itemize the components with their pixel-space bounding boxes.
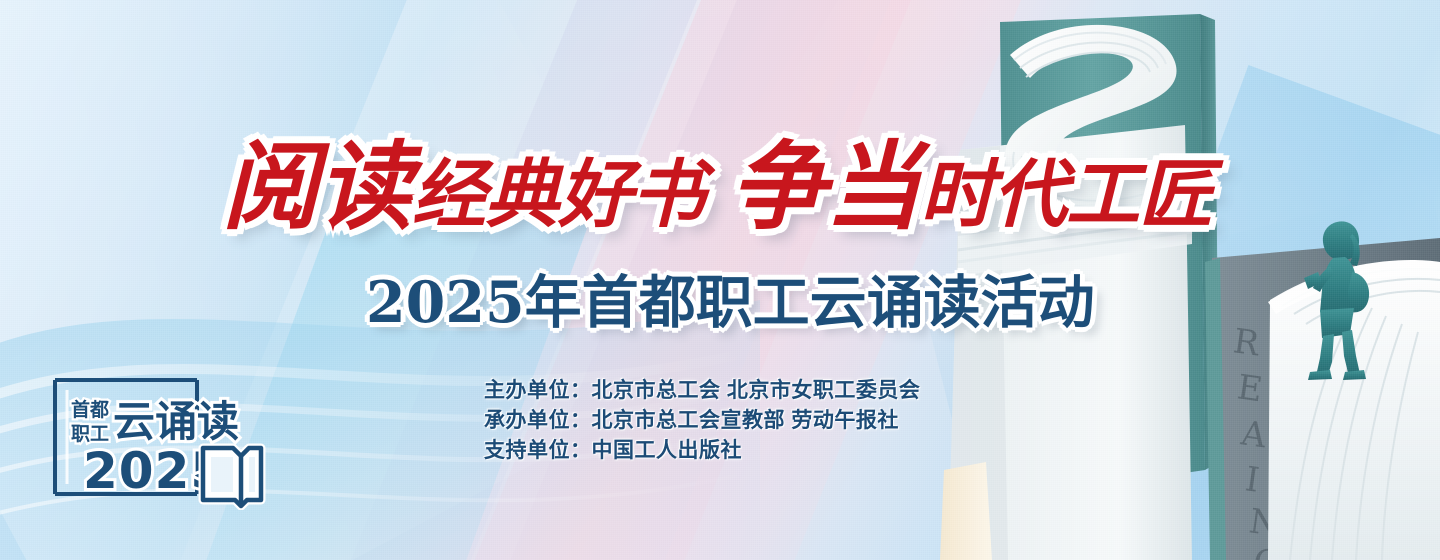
svg-text:G: G (1251, 541, 1283, 560)
headline: 阅读 经典好书 争当 时代工匠 (222, 124, 1232, 250)
headline-segment1-rest: 经典好书 (412, 158, 704, 232)
subtitle: 2025年首都职工云诵读活动 (366, 274, 1095, 331)
svg-text:I: I (1243, 459, 1262, 500)
credit-line-organizer: 承办单位：北京市总工会宣教部 劳动午报社 (484, 406, 920, 436)
organizer-credits: 主办单位：北京市总工会 北京市女职工委员会 承办单位：北京市总工会宣教部 劳动午… (484, 376, 920, 466)
event-logo-badge: 首都 职工 云诵读 2025 (47, 374, 269, 510)
badge-main-text: 云诵读 (113, 397, 239, 446)
open-book-icon (203, 448, 261, 506)
badge-stacked-top: 首都 (71, 398, 109, 421)
headline-segment2-rest: 时代工匠 (920, 158, 1212, 232)
credit-line-host: 主办单位：北京市总工会 北京市女职工委员会 (484, 376, 920, 406)
reader-silhouette (1304, 221, 1369, 380)
badge-stacked-text: 首都 职工 (71, 398, 109, 445)
promo-banner: R E A I N G (0, 0, 1440, 560)
headline-segment2-emphasis: 争当 (730, 139, 920, 235)
credit-line-support: 支持单位：中国工人出版社 (484, 436, 920, 466)
svg-text:N: N (1247, 501, 1282, 545)
svg-text:A: A (1238, 413, 1269, 456)
svg-text:E: E (1235, 367, 1265, 410)
svg-text:R: R (1231, 321, 1263, 364)
headline-row: 阅读 经典好书 争当 时代工匠 (222, 139, 1212, 235)
headline-segment1-emphasis: 阅读 (222, 139, 412, 235)
